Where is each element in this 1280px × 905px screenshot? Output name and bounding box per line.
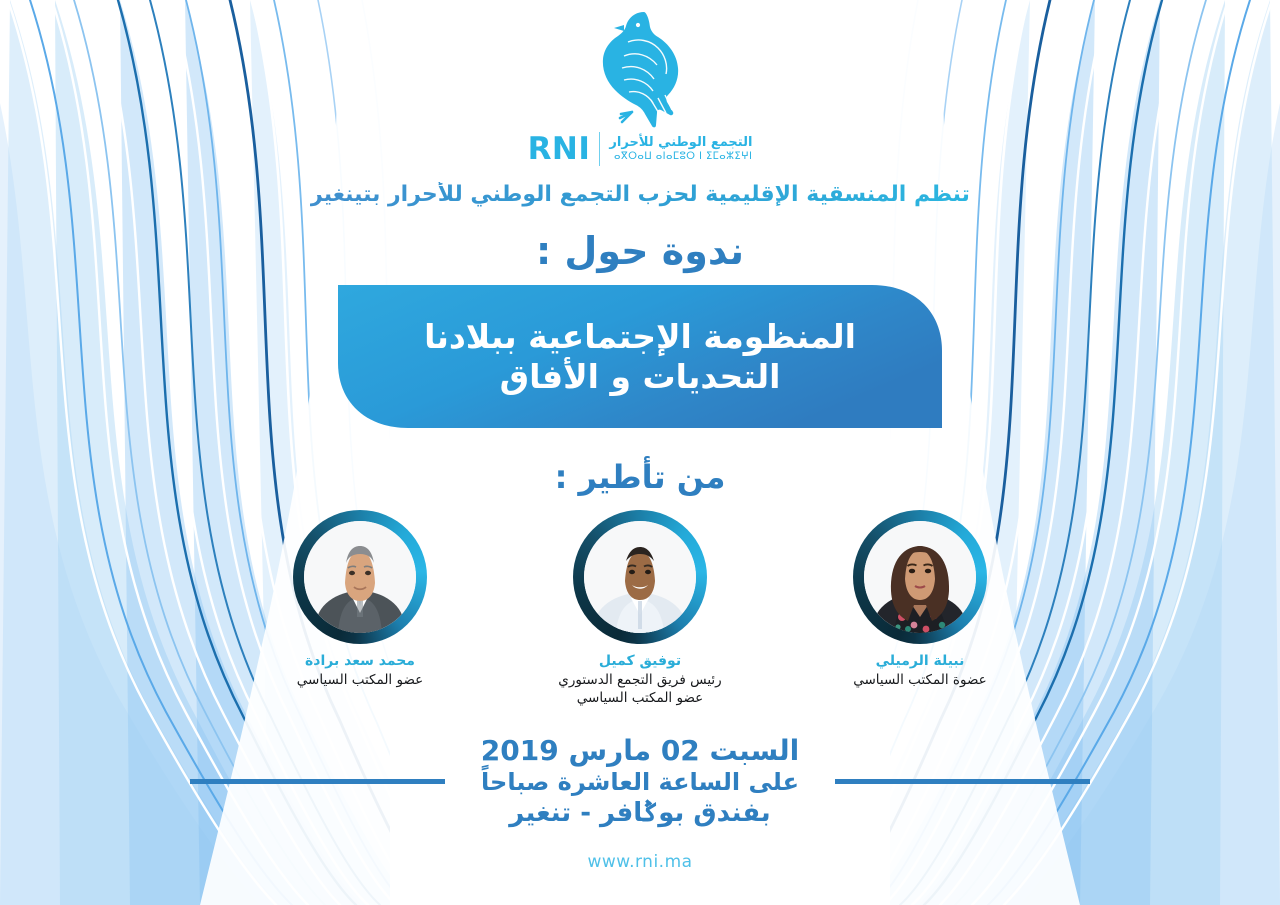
speaker-role: عضو المكتب السياسي — [297, 672, 423, 690]
presenters-label: من تأطير : — [555, 458, 726, 496]
logo-arabic-name: التجمع الوطني للأحرار — [609, 136, 752, 151]
poster-canvas: RNI التجمع الوطني للأحرار ⴰⴳⵔⴰⵡ ⴰⵏⴰⵎⵓⵔ ⵏ… — [0, 0, 1280, 905]
speakers-row: محمد سعد برادة عضو المكتب السياسي — [260, 510, 1020, 708]
logo-divider — [599, 132, 600, 166]
speaker-card: محمد سعد برادة عضو المكتب السياسي — [260, 510, 460, 689]
speaker-card: توفيق كميل رئيس فريق التجمع الدستوري عضو… — [540, 510, 740, 708]
event-venue: بفندق بوݣافر - تنغير — [481, 797, 799, 830]
event-details: السبت 02 مارس 2019 على الساعة العاشرة صب… — [481, 734, 799, 830]
event-time: على الساعة العاشرة صباحاً — [481, 767, 799, 797]
avatar-ring — [853, 510, 987, 644]
speaker-name: نبيلة الرميلي — [876, 653, 965, 671]
divider-right — [835, 779, 1090, 784]
avatar — [584, 521, 696, 633]
event-details-row: السبت 02 مارس 2019 على الساعة العاشرة صب… — [100, 734, 1180, 830]
speaker-role-secondary: عضو المكتب السياسي — [577, 690, 703, 708]
dove-bird-icon — [588, 8, 692, 128]
speaker-photo-nabila-rmili — [864, 521, 976, 633]
avatar — [864, 521, 976, 633]
speaker-name: محمد سعد برادة — [305, 653, 415, 671]
banner-title-line2: التحديات و الأفاق — [424, 358, 856, 396]
divider-left — [190, 779, 445, 784]
speaker-photo-mohamed-saad-berrada — [304, 521, 416, 633]
seminar-title-banner: المنظومة الإجتماعية ببلادنا التحديات و ا… — [338, 285, 942, 428]
logo-acronym: RNI — [528, 134, 591, 165]
avatar-ring — [573, 510, 707, 644]
website-url[interactable]: www.rni.ma — [587, 852, 692, 872]
rni-logo: RNI التجمع الوطني للأحرار ⴰⴳⵔⴰⵡ ⴰⵏⴰⵎⵓⵔ ⵏ… — [528, 8, 753, 166]
speaker-role: رئيس فريق التجمع الدستوري — [558, 672, 721, 690]
logo-tifinagh-name: ⴰⴳⵔⴰⵡ ⴰⵏⴰⵎⵓⵔ ⵏ ⵉⵎⴰⵣⵉⵖⵏ — [614, 151, 752, 163]
avatar — [304, 521, 416, 633]
avatar-ring — [293, 510, 427, 644]
banner-text: المنظومة الإجتماعية ببلادنا التحديات و ا… — [424, 318, 856, 396]
banner-title-line1: المنظومة الإجتماعية ببلادنا — [424, 318, 856, 356]
logo-lockup: RNI التجمع الوطني للأحرار ⴰⴳⵔⴰⵡ ⴰⵏⴰⵎⵓⵔ ⵏ… — [528, 132, 753, 166]
event-date: السبت 02 مارس 2019 — [481, 734, 799, 768]
speaker-card: نبيلة الرميلي عضوة المكتب السياسي — [820, 510, 1020, 689]
seminar-label: ندوة حول : — [536, 229, 744, 273]
speaker-role: عضوة المكتب السياسي — [853, 672, 987, 690]
speaker-photo-toufiq-kamil — [584, 521, 696, 633]
organizer-line: تنظم المنسقية الإقليمية لحزب التجمع الوط… — [310, 182, 970, 207]
speaker-name: توفيق كميل — [599, 653, 681, 671]
